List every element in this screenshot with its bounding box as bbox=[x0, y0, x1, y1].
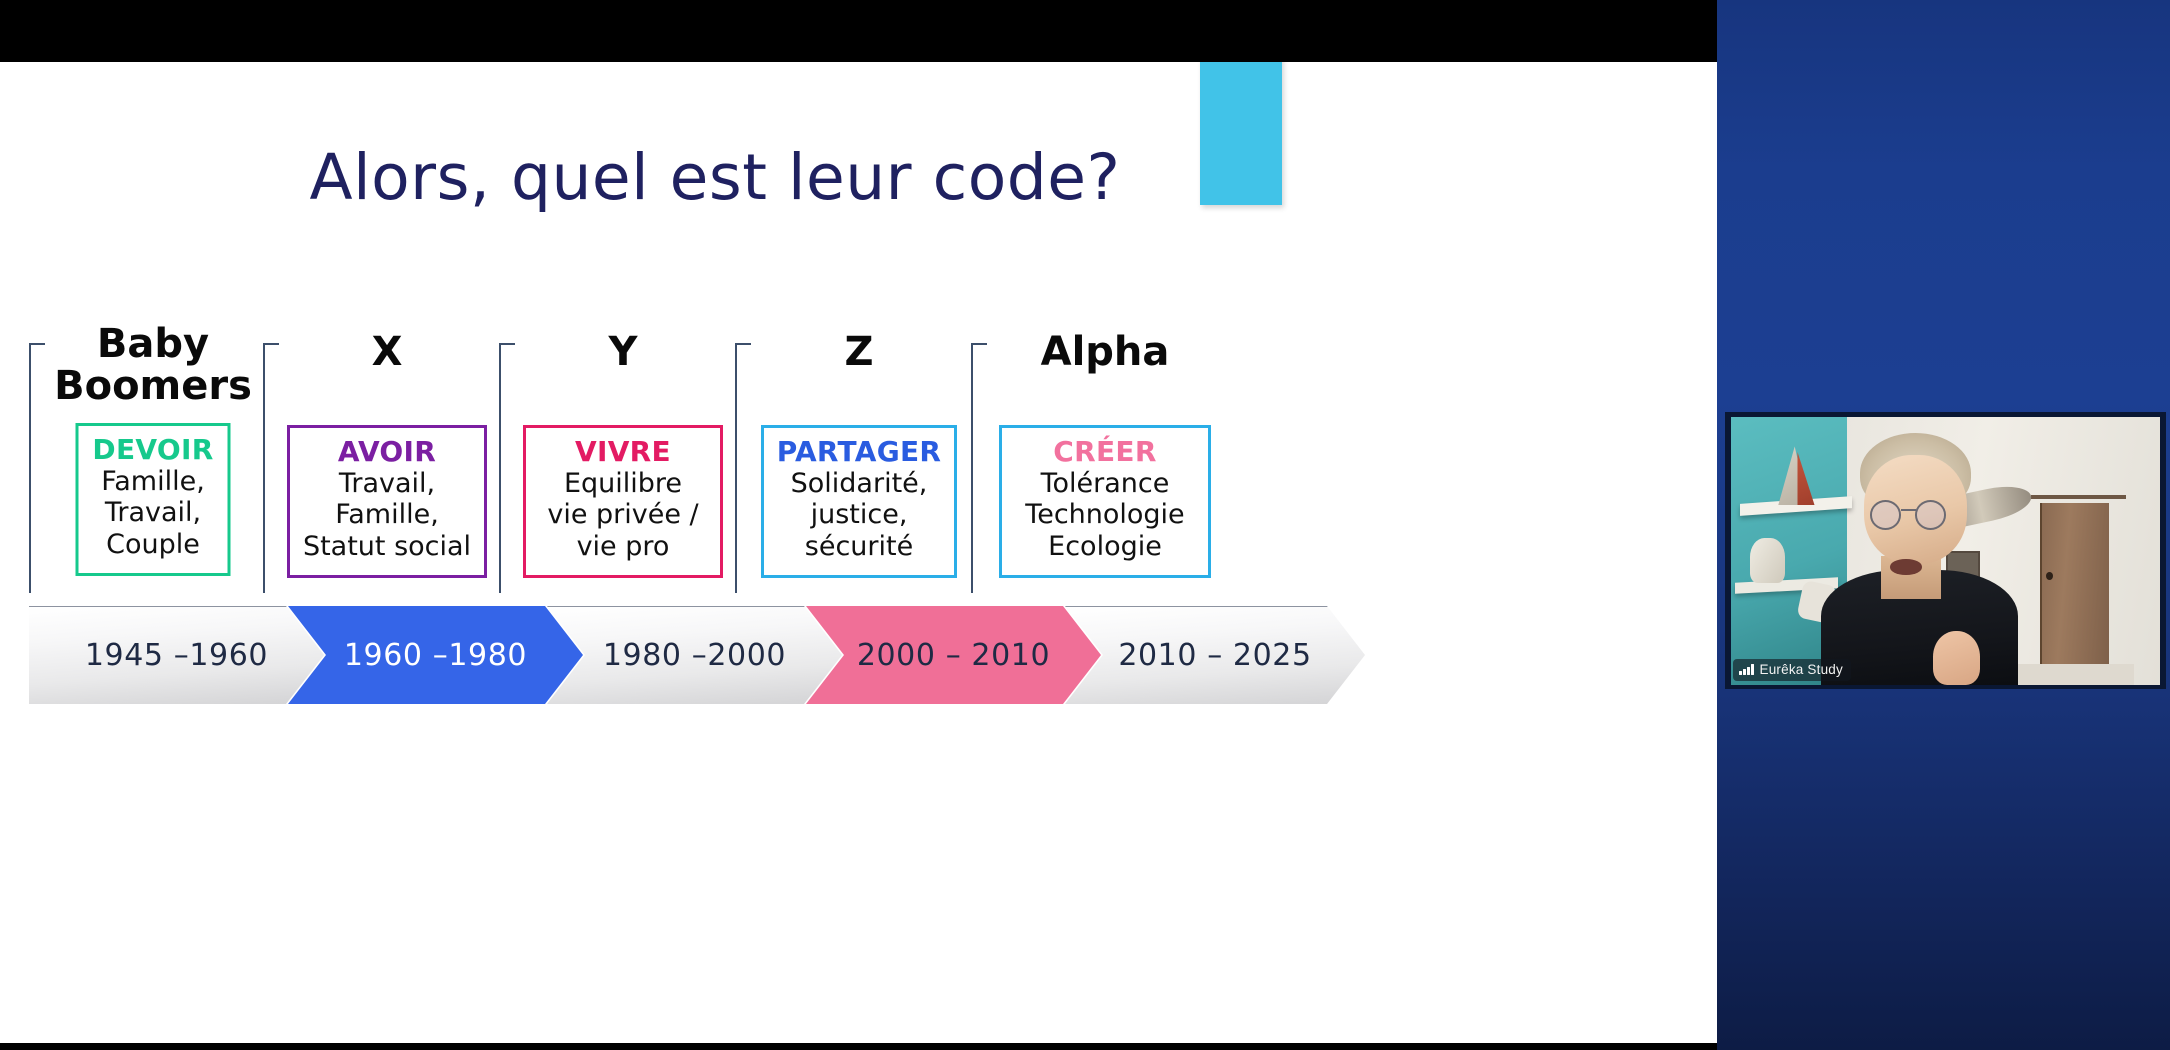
generation-name: Y bbox=[499, 331, 747, 373]
bracket-line-icon bbox=[263, 343, 279, 593]
timeline-period-chevron: 1980 –2000 bbox=[547, 606, 842, 704]
generation-description: Solidarité, justice, sécurité bbox=[774, 468, 944, 563]
person-mouth bbox=[1890, 559, 1922, 575]
timeline-period-chevron: 1960 –1980 bbox=[288, 606, 583, 704]
signal-bars-icon bbox=[1739, 664, 1754, 675]
generation-column-alpha: Alpha CRÉER Tolérance Technologie Ecolog… bbox=[971, 313, 1239, 593]
generation-description: Travail, Famille, Statut social bbox=[300, 468, 474, 563]
participant-name-badge: Eurêka Study bbox=[1733, 659, 1851, 681]
presentation-slide: Alors, quel est leur code? Baby Boomers … bbox=[0, 31, 1717, 1043]
timeline-period-chevron: 2010 – 2025 bbox=[1065, 606, 1365, 704]
generation-value-card: AVOIR Travail, Famille, Statut social bbox=[287, 425, 487, 578]
generation-description: Equilibre vie privée / vie pro bbox=[536, 468, 710, 563]
slide-title: Alors, quel est leur code? bbox=[0, 141, 1430, 214]
generation-name: Baby Boomers bbox=[29, 323, 277, 407]
eyeglasses-left-lens bbox=[1870, 500, 1901, 529]
generation-column-z: Z PARTAGER Solidarité, justice, sécurité bbox=[735, 313, 983, 593]
participant-name: Eurêka Study bbox=[1760, 662, 1843, 677]
generation-keyword: CRÉER bbox=[1012, 436, 1198, 468]
generation-value-card: DEVOIR Famille, Travail, Couple bbox=[76, 423, 231, 576]
generation-column-baby-boomers: Baby Boomers DEVOIR Famille, Travail, Co… bbox=[29, 313, 277, 593]
shelf-object-vase bbox=[1750, 538, 1784, 584]
generation-description: Famille, Travail, Couple bbox=[89, 466, 218, 561]
bracket-line-icon bbox=[971, 343, 987, 593]
generation-description: Tolérance Technologie Ecologie bbox=[1012, 468, 1198, 563]
generation-column-y: Y VIVRE Equilibre vie privée / vie pro bbox=[499, 313, 747, 593]
timeline-period-chevron: 1945 –1960 bbox=[29, 606, 324, 704]
generation-column-x: X AVOIR Travail, Famille, Statut social bbox=[263, 313, 511, 593]
person-hand bbox=[1933, 631, 1980, 685]
generation-value-card: VIVRE Equilibre vie privée / vie pro bbox=[523, 425, 723, 578]
generation-name: Z bbox=[735, 331, 983, 373]
door bbox=[2040, 503, 2109, 685]
generation-keyword: DEVOIR bbox=[89, 434, 218, 466]
generation-name: X bbox=[263, 331, 511, 373]
door-rail bbox=[2031, 495, 2125, 499]
generations-row: Baby Boomers DEVOIR Famille, Travail, Co… bbox=[29, 313, 1329, 593]
generation-value-card: CRÉER Tolérance Technologie Ecologie bbox=[999, 425, 1211, 578]
generation-value-card: PARTAGER Solidarité, justice, sécurité bbox=[761, 425, 957, 578]
generation-keyword: AVOIR bbox=[300, 436, 474, 468]
timeline-chevron-bar: 1945 –1960 1960 –1980 1980 –2000 2000 – … bbox=[29, 606, 1359, 704]
participant-video-tile[interactable]: Eurêka Study bbox=[1725, 412, 2166, 689]
video-conference-panel: Eurêka Study bbox=[1717, 0, 2170, 1050]
generation-name: Alpha bbox=[971, 331, 1239, 373]
participant-video-feed bbox=[1731, 417, 2160, 685]
generation-keyword: VIVRE bbox=[536, 436, 710, 468]
generation-keyword: PARTAGER bbox=[774, 436, 944, 468]
bracket-line-icon bbox=[499, 343, 515, 593]
eyeglasses-right-lens bbox=[1915, 500, 1946, 529]
timeline-period-chevron: 2000 – 2010 bbox=[806, 606, 1101, 704]
screen: Alors, quel est leur code? Baby Boomers … bbox=[0, 0, 2170, 1050]
eyeglasses-bridge bbox=[1901, 509, 1916, 511]
slide-top-letterbox bbox=[0, 31, 1717, 62]
bracket-line-icon bbox=[735, 343, 751, 593]
